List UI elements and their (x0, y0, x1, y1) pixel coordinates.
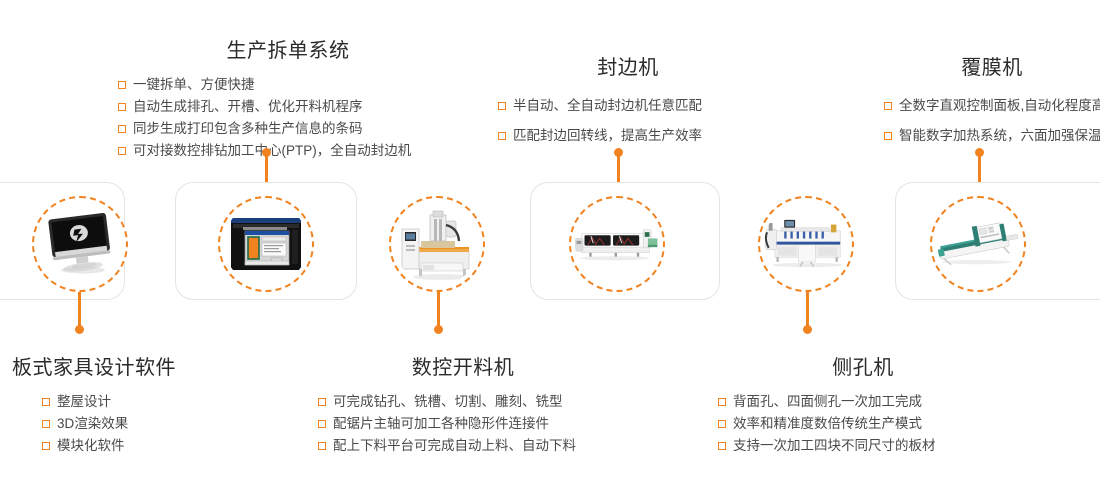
checkbox-icon (118, 103, 126, 111)
feature-text: 同步生成打印包含多种生产信息的条码 (133, 118, 363, 140)
node-design-software[interactable] (32, 196, 128, 292)
feature-item: 整屋设计 (42, 391, 252, 413)
side-hole-machine-feature-list: 背面孔、四面侧孔一次加工完成 效率和精准度数倍传统生产模式 支持一次加工四块不同… (718, 391, 1008, 457)
checkbox-icon (118, 81, 126, 89)
feature-text: 3D渲染效果 (57, 413, 128, 435)
edge-banding-machine-feature-list: 半自动、全自动封边机任意匹配 匹配封边回转线，提高生产效率 (498, 91, 758, 151)
imac-monitor-icon (38, 202, 122, 286)
feature-text: 模块化软件 (57, 435, 125, 457)
callout-design-software: 板式家具设计软件 整屋设计 3D渲染效果 模块化软件 (12, 355, 252, 457)
feature-text: 可完成钻孔、铣槽、切割、雕刻、铣型 (333, 391, 563, 413)
callout-edge-banding-machine: 封边机 半自动、全自动封边机任意匹配 匹配封边回转线，提高生产效率 (498, 55, 758, 151)
callout-cnc-cutting-machine: 数控开料机 可完成钻孔、铣槽、切割、雕刻、铣型 配锯片主轴可加工各种隐形件连接件… (318, 355, 608, 457)
feature-text: 全数字直观控制面板,自动化程度高 (899, 91, 1100, 121)
connector-dot (803, 325, 812, 334)
feature-item: 可完成钻孔、铣槽、切割、雕刻、铣型 (318, 391, 608, 413)
node-cnc-cutting-machine[interactable] (389, 196, 485, 292)
software-screen-icon (224, 202, 308, 286)
connector-design-software (78, 286, 81, 330)
connector-dot (262, 148, 271, 157)
connector-cnc-cutting-machine (437, 286, 440, 330)
feature-text: 整屋设计 (57, 391, 111, 413)
connector-dot (434, 325, 443, 334)
feature-text: 半自动、全自动封边机任意匹配 (513, 91, 702, 121)
production-line-infographic: 生产拆单系统 一键拆单、方便快捷 自动生成排孔、开槽、优化开料机程序 同步生成打… (0, 0, 1100, 495)
edge-bander-icon (575, 202, 659, 286)
checkbox-icon (318, 420, 326, 428)
feature-item: 智能数字加热系统，六面加强保温 (884, 121, 1100, 151)
cnc-router-icon (395, 202, 479, 286)
checkbox-icon (718, 420, 726, 428)
feature-item: 可对接数控排钻加工中心(PTP)，全自动封边机 (118, 140, 458, 162)
feature-item: 配上下料平台可完成自动上料、自动下料 (318, 435, 608, 457)
design-software-title: 板式家具设计软件 (12, 355, 252, 381)
machine-node-band (0, 178, 1100, 303)
connector-side-hole-machine (806, 286, 809, 330)
side-drilling-machine-icon (764, 202, 848, 286)
feature-text: 一键拆单、方便快捷 (133, 74, 255, 96)
laminating-machine-title: 覆膜机 (884, 55, 1100, 81)
checkbox-icon (42, 442, 50, 450)
feature-item: 配锯片主轴可加工各种隐形件连接件 (318, 413, 608, 435)
callout-split-order-system: 生产拆单系统 一键拆单、方便快捷 自动生成排孔、开槽、优化开料机程序 同步生成打… (118, 38, 458, 162)
feature-item: 一键拆单、方便快捷 (118, 74, 458, 96)
connector-split-order-system (265, 152, 268, 182)
feature-text: 配锯片主轴可加工各种隐形件连接件 (333, 413, 549, 435)
feature-item: 背面孔、四面侧孔一次加工完成 (718, 391, 1008, 413)
feature-text: 背面孔、四面侧孔一次加工完成 (733, 391, 922, 413)
checkbox-icon (718, 398, 726, 406)
feature-item: 匹配封边回转线，提高生产效率 (498, 121, 758, 151)
checkbox-icon (498, 132, 506, 140)
checkbox-icon (884, 132, 892, 140)
node-laminating-machine[interactable] (930, 196, 1026, 292)
connector-dot (75, 325, 84, 334)
feature-item: 同步生成打印包含多种生产信息的条码 (118, 118, 458, 140)
split-order-system-feature-list: 一键拆单、方便快捷 自动生成排孔、开槽、优化开料机程序 同步生成打印包含多种生产… (118, 74, 458, 162)
checkbox-icon (42, 398, 50, 406)
laminating-machine-icon (936, 202, 1020, 286)
feature-text: 支持一次加工四块不同尺寸的板材 (733, 435, 936, 457)
feature-item: 半自动、全自动封边机任意匹配 (498, 91, 758, 121)
design-software-feature-list: 整屋设计 3D渲染效果 模块化软件 (42, 391, 252, 457)
feature-item: 自动生成排孔、开槽、优化开料机程序 (118, 96, 458, 118)
feature-item: 效率和精准度数倍传统生产模式 (718, 413, 1008, 435)
feature-text: 自动生成排孔、开槽、优化开料机程序 (133, 96, 363, 118)
side-hole-machine-title: 侧孔机 (718, 355, 1008, 381)
cnc-cutting-machine-title: 数控开料机 (318, 355, 608, 381)
checkbox-icon (884, 102, 892, 110)
node-side-hole-machine[interactable] (758, 196, 854, 292)
feature-item: 3D渲染效果 (42, 413, 252, 435)
checkbox-icon (318, 442, 326, 450)
checkbox-icon (318, 398, 326, 406)
node-split-order-system[interactable] (218, 196, 314, 292)
feature-text: 可对接数控排钻加工中心(PTP)，全自动封边机 (133, 140, 411, 162)
feature-text: 效率和精准度数倍传统生产模式 (733, 413, 922, 435)
connector-dot (975, 148, 984, 157)
callout-side-hole-machine: 侧孔机 背面孔、四面侧孔一次加工完成 效率和精准度数倍传统生产模式 支持一次加工… (718, 355, 1008, 457)
node-edge-banding-machine[interactable] (569, 196, 665, 292)
checkbox-icon (718, 442, 726, 450)
cnc-cutting-machine-feature-list: 可完成钻孔、铣槽、切割、雕刻、铣型 配锯片主轴可加工各种隐形件连接件 配上下料平… (318, 391, 608, 457)
checkbox-icon (118, 147, 126, 155)
edge-banding-machine-title: 封边机 (498, 55, 758, 81)
split-order-system-title: 生产拆单系统 (118, 38, 458, 64)
feature-item: 模块化软件 (42, 435, 252, 457)
connector-edge-banding-machine (617, 152, 620, 182)
connector-laminating-machine (978, 152, 981, 182)
feature-text: 配上下料平台可完成自动上料、自动下料 (333, 435, 576, 457)
laminating-machine-feature-list: 全数字直观控制面板,自动化程度高 智能数字加热系统，六面加强保温 (884, 91, 1100, 151)
feature-text: 智能数字加热系统，六面加强保温 (899, 121, 1100, 151)
callout-laminating-machine: 覆膜机 全数字直观控制面板,自动化程度高 智能数字加热系统，六面加强保温 (884, 55, 1100, 151)
checkbox-icon (42, 420, 50, 428)
feature-item: 全数字直观控制面板,自动化程度高 (884, 91, 1100, 121)
checkbox-icon (118, 125, 126, 133)
feature-item: 支持一次加工四块不同尺寸的板材 (718, 435, 1008, 457)
connector-dot (614, 148, 623, 157)
feature-text: 匹配封边回转线，提高生产效率 (513, 121, 702, 151)
checkbox-icon (498, 102, 506, 110)
